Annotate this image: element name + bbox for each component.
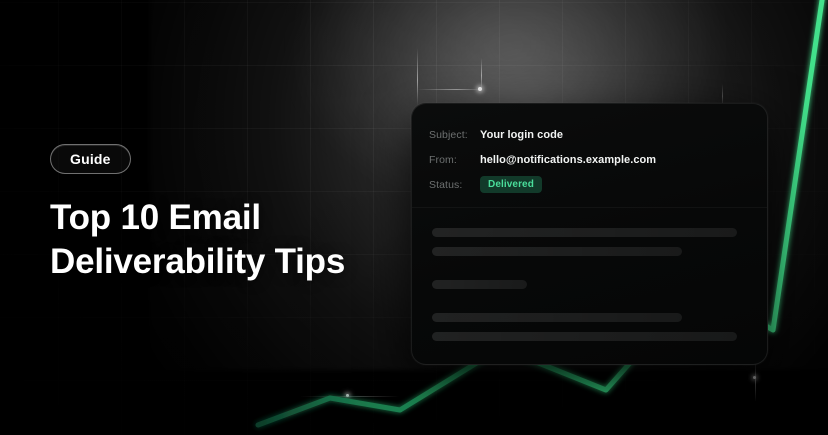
status-badge: Delivered [480,176,542,193]
skeleton-line [432,247,682,256]
email-preview-card: Subject: Your login code From: hello@not… [411,103,768,365]
email-subject-label: Subject: [429,129,480,141]
skeleton-line [432,228,737,237]
email-from-value: hello@notifications.example.com [480,154,656,166]
email-body-skeleton [412,208,767,341]
email-status-label: Status: [429,179,480,191]
email-subject-row: Subject: Your login code [429,122,750,147]
email-subject-value: Your login code [480,129,563,141]
skeleton-line [432,313,682,322]
hero-banner: Guide Top 10 Email Deliverability Tips S… [0,0,828,435]
email-meta: Subject: Your login code From: hello@not… [412,104,767,197]
email-status-row: Status: Delivered [429,172,750,197]
email-from-row: From: hello@notifications.example.com [429,147,750,172]
page-title: Top 10 Email Deliverability Tips [50,196,345,284]
hero-copy: Guide Top 10 Email Deliverability Tips [50,144,345,284]
skeleton-line [432,280,527,289]
email-from-label: From: [429,154,480,166]
skeleton-line [432,332,737,341]
guide-badge: Guide [50,144,131,174]
